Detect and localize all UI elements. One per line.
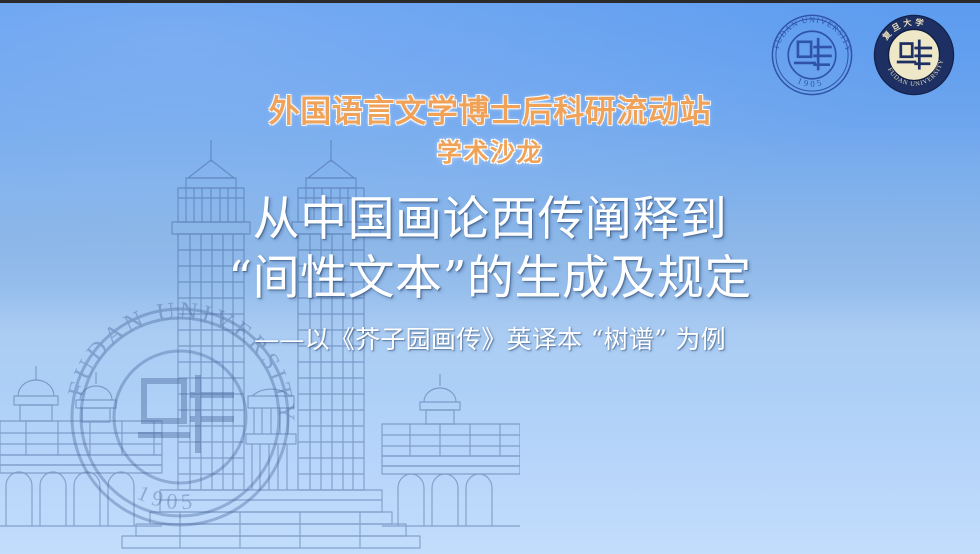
event-name: 学术沙龙 [0,137,980,170]
title-slide: FUDAN UNIVERSITY 1905 [0,0,980,554]
page-title-line-1: 从中国画论西传阐释到 [0,191,980,249]
page-title-line-2: “间性文本”的生成及规定 [0,250,980,308]
svg-text:1905: 1905 [796,75,825,88]
fudan-university-outline-seal-icon: FUDAN UNIVERSITY 1905 [768,11,856,99]
host-organization: 外国语言文学博士后科研流动站 [0,95,980,131]
title-text-stack: 外国语言文学博士后科研流动站 学术沙龙 从中国画论西传阐释到 “间性文本”的生成… [0,95,980,356]
page-title: 从中国画论西传阐释到 “间性文本”的生成及规定 [0,191,980,308]
fudan-university-solid-seal-icon: 复旦大学 FUDAN UNIVERSITY [870,11,958,99]
university-logos: FUDAN UNIVERSITY 1905 [768,11,958,99]
page-subtitle: ——以《芥子园画传》英译本 “树谱” 为例 [0,324,980,357]
